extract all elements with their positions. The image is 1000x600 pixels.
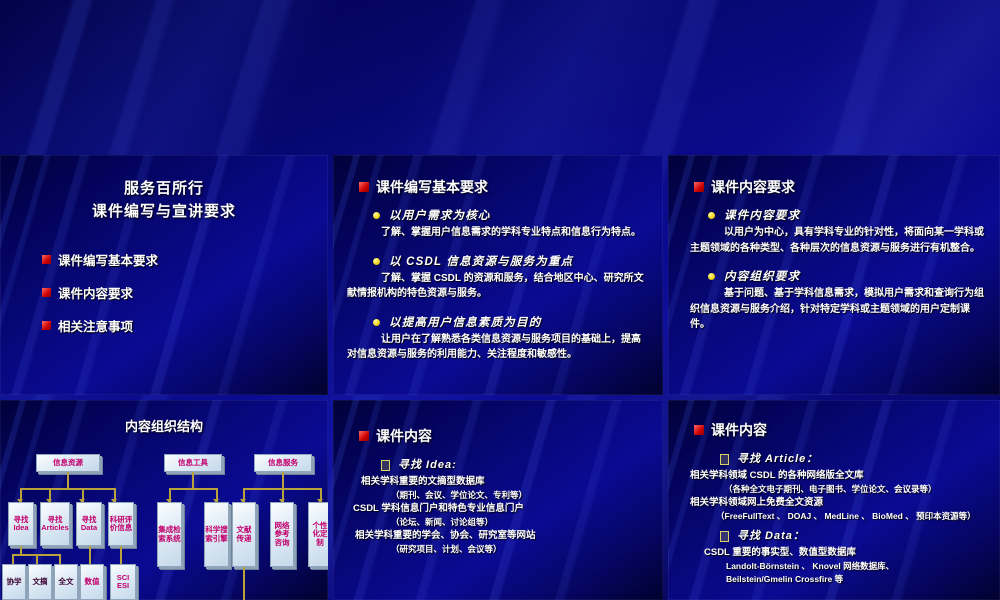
- bullet-square-icon: [359, 182, 369, 192]
- content-line-sub: （研究项目、计划、会议等）: [391, 543, 663, 556]
- content-line: 相关学科重要的学会、协会、研究室等网站: [355, 529, 663, 543]
- bullet-hollow-square-icon: [381, 460, 390, 471]
- slide6-heading: 课件内容: [694, 420, 1000, 440]
- diagram-node-a3: 寻找 Data: [76, 502, 102, 546]
- slide5-heading: 课件内容: [359, 426, 663, 446]
- bullet-dot-icon: [373, 258, 380, 265]
- bullet-dot-icon: [708, 273, 715, 280]
- diagram-node-root-b: 信息工具: [164, 454, 222, 472]
- list-item-label: 以提高用户信息素质为目的: [389, 314, 541, 330]
- diagram-node-a3-c1: 数值: [80, 564, 104, 600]
- slide1-title-line2: 课件编写与宣讲要求: [0, 200, 328, 223]
- list-item: 相关注意事项: [42, 316, 328, 335]
- content-line-sub: （各种全文电子期刊、电子图书、学位论文、会议录等）: [724, 483, 1000, 496]
- bullet-dot-icon: [373, 212, 380, 219]
- diagram-node-b2: 科学搜索引擎: [204, 502, 229, 567]
- list-item-label: 以 CSDL 信息资源与服务为重点: [389, 253, 573, 269]
- list-item-label: 课件内容要求: [724, 207, 800, 223]
- org-diagram: 信息资源 寻找 Idea 寻找 Articles 寻找 Data 科研评价信息: [0, 442, 328, 600]
- slide-thumbnail-2[interactable]: 课件编写基本要求 以用户需求为核心 了解、掌握用户信息需求的学科专业特点和信息行…: [333, 155, 663, 395]
- slide5-heading-label: 课件内容: [376, 426, 432, 446]
- paragraph: 让用户在了解熟悉各类信息资源与服务项目的基础上，提高对信息资源与服务的利用能力、…: [347, 332, 649, 363]
- slide3-heading: 课件内容要求: [694, 177, 1000, 197]
- bullet-square-icon: [42, 288, 51, 297]
- list-item-label: 课件编写基本要求: [58, 250, 158, 269]
- list-item: 以用户需求为核心: [373, 207, 663, 223]
- bullet-square-icon: [42, 255, 51, 264]
- bullet-hollow-square-icon: [720, 454, 729, 465]
- slide6-heading-label: 课件内容: [711, 420, 767, 440]
- slide1-title: 服务百所行 课件编写与宣讲要求: [0, 177, 328, 224]
- diagram-node-a1-c2: 文摘: [28, 564, 52, 600]
- connector: [192, 472, 194, 488]
- content-line: CSDL 重要的事实型、数值型数据库: [704, 546, 1000, 560]
- content-line: 相关学科重要的文摘型数据库: [361, 475, 663, 489]
- list-item-label: 以用户需求为核心: [389, 207, 491, 223]
- list-item-label: 寻找 Data：: [737, 527, 805, 543]
- diagram-node-a4-c1: SCI ESI: [110, 564, 136, 600]
- diagram-node-root-a: 信息资源: [36, 454, 100, 472]
- diagram-node-a1: 寻找 Idea: [8, 502, 34, 546]
- diagram-node-a4: 科研评价信息: [108, 502, 134, 546]
- content-line-sub: （FreeFullText 、 DOAJ 、 MedLine 、 BioMed …: [716, 510, 1000, 523]
- slide-thumbnail-6[interactable]: 课件内容 寻找 Article： 相关学科领域 CSDL 的各种网络版全文库 （…: [668, 400, 1000, 600]
- slide4-title: 内容组织结构: [0, 416, 328, 435]
- list-item: 课件内容要求: [42, 283, 328, 302]
- slide3-heading-label: 课件内容要求: [711, 177, 795, 197]
- slide-thumbnail-1[interactable]: 服务百所行 课件编写与宣讲要求 课件编写基本要求 课件内容要求 相关注意事项: [0, 155, 328, 395]
- list-item: 内容组织要求: [708, 268, 1000, 284]
- diagram-node-a1-c3: 全文: [54, 564, 78, 600]
- connector: [20, 488, 114, 490]
- slide1-agenda-list: 课件编写基本要求 课件内容要求 相关注意事项: [42, 250, 328, 335]
- content-line: 相关学科领域 CSDL 的各种网络版全文库: [690, 469, 1000, 483]
- connector: [169, 488, 217, 490]
- connector: [12, 554, 14, 564]
- bullet-square-icon: [694, 182, 704, 192]
- content-line: 相关学科领域网上免费全文资源: [690, 496, 1000, 510]
- diagram-node-b1: 集成检索系统: [157, 502, 182, 567]
- bullet-dot-icon: [373, 319, 380, 326]
- diagram-node-c2: 网络参考咨询: [270, 502, 294, 567]
- diagram-node-c3: 个性化定制: [308, 502, 328, 567]
- connector: [243, 567, 245, 600]
- list-item-label: 寻找 Idea:: [398, 456, 457, 472]
- list-item: 寻找 Idea:: [381, 456, 663, 472]
- bullet-dot-icon: [708, 212, 715, 219]
- bullet-square-icon: [694, 425, 704, 435]
- bullet-square-icon: [42, 321, 51, 330]
- list-item-label: 内容组织要求: [724, 268, 800, 284]
- content-line-sub: Landolt-Börnstein 、 Knovel 网络数据库、: [726, 560, 1000, 573]
- content-line: CSDL 学科信息门户和特色专业信息门户: [353, 502, 663, 516]
- slide-thumbnail-3[interactable]: 课件内容要求 课件内容要求 以用户为中心，具有学科专业的针对性，将面向某一学科或…: [668, 155, 1000, 395]
- content-line-sub: （论坛、新闻、讨论组等）: [391, 516, 663, 529]
- connector: [36, 554, 38, 564]
- slide-grid: 服务百所行 课件编写与宣讲要求 课件编写基本要求 课件内容要求 相关注意事项: [0, 155, 1000, 600]
- diagram-node-a2: 寻找 Articles: [40, 502, 70, 546]
- list-item: 寻找 Article：: [720, 450, 1000, 466]
- slide2-heading-label: 课件编写基本要求: [376, 177, 488, 197]
- connector: [67, 472, 69, 488]
- connector: [89, 546, 91, 564]
- connector: [282, 472, 284, 488]
- list-item: 寻找 Data：: [720, 527, 1000, 543]
- slide2-heading: 课件编写基本要求: [359, 177, 663, 197]
- connector: [120, 546, 122, 564]
- diagram-node-c1: 文献传递: [232, 502, 256, 567]
- diagram-node-a1-c1: 协学: [2, 564, 26, 600]
- connector: [59, 554, 61, 564]
- list-item-label: 相关注意事项: [58, 316, 133, 335]
- paragraph: 基于问题、基于学科信息需求，模拟用户需求和查询行为组织信息资源与服务介绍，针对特…: [690, 286, 984, 333]
- list-item: 以提高用户信息素质为目的: [373, 314, 663, 330]
- diagram-node-root-c: 信息服务: [254, 454, 312, 472]
- slide-thumbnail-4[interactable]: 内容组织结构 信息资源 寻找 Idea 寻找 Articles 寻找 Data …: [0, 400, 328, 600]
- list-item: 课件内容要求: [708, 207, 1000, 223]
- list-item-label: 课件内容要求: [58, 283, 133, 302]
- slide-sorter-page: 服务百所行 课件编写与宣讲要求 课件编写基本要求 课件内容要求 相关注意事项: [0, 0, 1000, 600]
- bullet-hollow-square-icon: [720, 531, 729, 542]
- list-item: 以 CSDL 信息资源与服务为重点: [373, 253, 663, 269]
- content-line-sub: （期刊、会议、学位论文、专利等）: [391, 489, 663, 502]
- connector: [20, 546, 22, 554]
- bullet-square-icon: [359, 431, 369, 441]
- paragraph: 了解、掌握用户信息需求的学科专业特点和信息行为特点。: [347, 225, 649, 241]
- list-item-label: 寻找 Article：: [737, 450, 818, 466]
- slide-thumbnail-5[interactable]: 课件内容 寻找 Idea: 相关学科重要的文摘型数据库 （期刊、会议、学位论文、…: [333, 400, 663, 600]
- content-line-sub: Beilstein/Gmelin Crossfire 等: [726, 573, 1000, 586]
- paragraph: 以用户为中心，具有学科专业的针对性，将面向某一学科或主题领域的各种类型、各种层次…: [690, 225, 984, 256]
- slide1-title-line1: 服务百所行: [0, 177, 328, 200]
- list-item: 课件编写基本要求: [42, 250, 328, 269]
- paragraph: 了解、掌握 CSDL 的资源和服务，结合地区中心、研究所文献情报机构的特色资源与…: [347, 271, 649, 302]
